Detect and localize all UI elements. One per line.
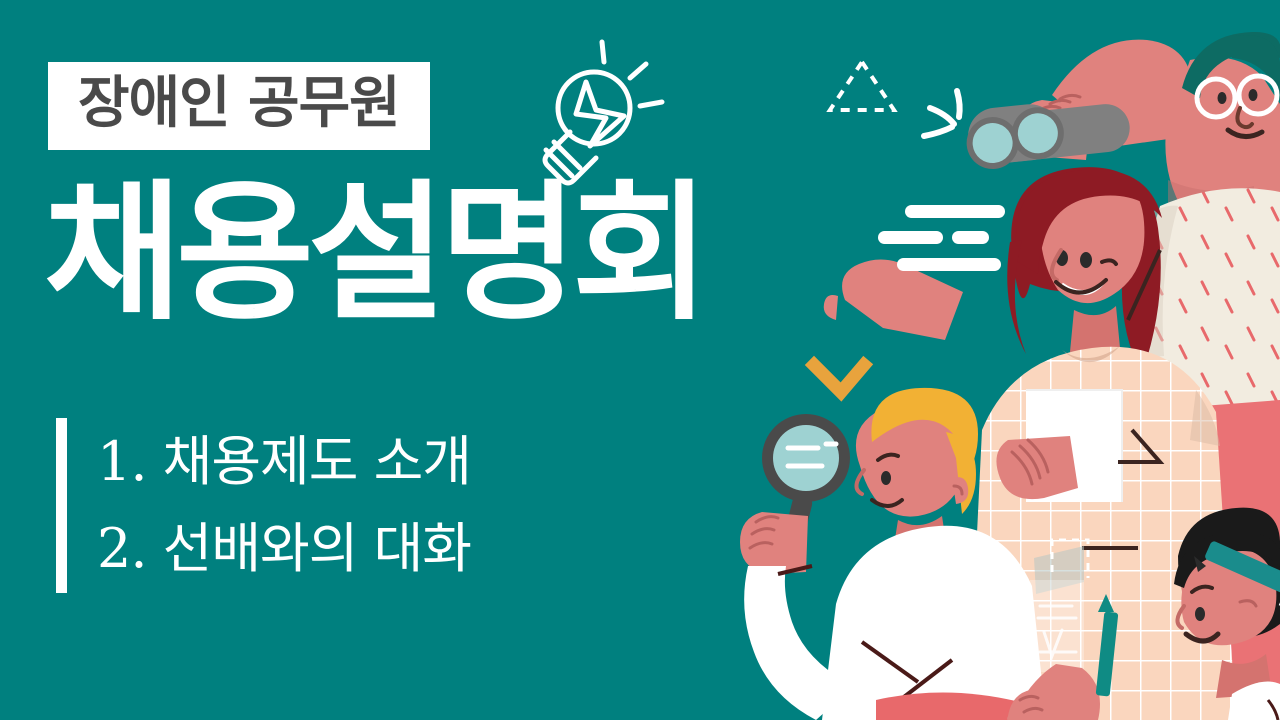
woman-arm	[842, 259, 963, 340]
chevron-down-icon	[814, 365, 864, 392]
pointer-face	[1181, 548, 1276, 646]
lightbulb-idea-icon	[545, 42, 662, 183]
text-line-decor-2	[878, 231, 943, 244]
binoc-person-shirt	[1142, 188, 1280, 410]
pointer-hair	[1178, 508, 1280, 638]
coral-backdrop	[1060, 300, 1280, 720]
woman-face	[1039, 174, 1144, 303]
dashed-triangle-icon	[830, 62, 894, 110]
binoculars-icon	[964, 101, 1132, 171]
glasses-icon	[1197, 76, 1277, 117]
blond-hair	[871, 388, 978, 478]
poster-canvas: 장애인 공무원 채용설명회 1. 채용제도 소개 2. 선배와의 대화	[0, 0, 1280, 720]
magnifier-sleeve	[744, 566, 854, 720]
binocular-hand	[1016, 100, 1092, 160]
agenda-accent-bar	[56, 418, 67, 593]
sparkle-lines-icon	[924, 91, 960, 136]
agenda-item-1: 1. 채용제도 소개	[97, 418, 471, 505]
category-badge: 장애인 공무원	[48, 62, 430, 150]
binocular-arm	[1052, 40, 1192, 147]
agenda-block: 1. 채용제도 소개 2. 선배와의 대화	[56, 418, 471, 593]
binoc-person-hair	[1182, 32, 1280, 98]
paper-document-icon	[1026, 390, 1122, 502]
text-line-decor-1	[905, 205, 1005, 218]
magnifying-glass-icon	[762, 414, 850, 532]
woman-hand	[996, 436, 1078, 499]
dark-panel	[1034, 505, 1100, 720]
headband-pencil-icon	[1194, 540, 1280, 613]
category-badge-label: 장애인 공무원	[78, 71, 400, 136]
agenda-list: 1. 채용제도 소개 2. 선배와의 대화	[97, 418, 471, 593]
agenda-item-2: 2. 선배와의 대화	[97, 505, 471, 592]
blond-face	[856, 401, 967, 517]
woman-top	[968, 347, 1236, 720]
text-line-decor-3	[952, 231, 989, 244]
blond-shirt	[822, 526, 1046, 720]
pointing-hand-card	[1007, 540, 1118, 720]
binoc-person-face	[1165, 57, 1280, 212]
magnifier-fist	[740, 512, 808, 574]
page-title: 채용설명회	[44, 168, 704, 341]
woman-hair-back	[1011, 167, 1161, 374]
text-line-decor-4	[897, 258, 1001, 271]
